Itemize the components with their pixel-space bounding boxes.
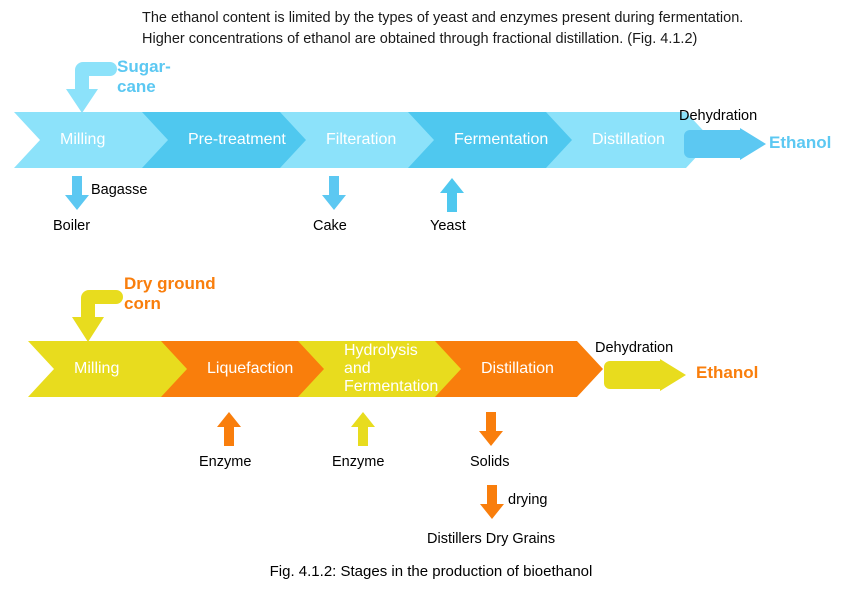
corn-input-label: Dry ground corn bbox=[124, 274, 216, 314]
stage-label: Milling bbox=[14, 131, 174, 149]
enzyme-arrow-2 bbox=[351, 412, 375, 446]
enzyme-arrow-1 bbox=[217, 412, 241, 446]
corn-input-arrow bbox=[68, 283, 124, 343]
sugarcane-input-label: Sugar- cane bbox=[117, 57, 171, 97]
ethanol-output-sugarcane: Ethanol bbox=[769, 133, 831, 153]
distillers-dry-grains-label: Distillers Dry Grains bbox=[427, 531, 555, 547]
dehydration-label-corn: Dehydration bbox=[595, 340, 673, 356]
solids-label: Solids bbox=[470, 454, 510, 470]
solids-arrow bbox=[479, 412, 503, 446]
enzyme-label-2: Enzyme bbox=[332, 454, 384, 470]
dehydration-label-sugarcane: Dehydration bbox=[679, 108, 757, 124]
dehydration-arrow-corn bbox=[604, 359, 686, 391]
yeast-label: Yeast bbox=[430, 218, 466, 234]
cake-label: Cake bbox=[313, 218, 347, 234]
dehydration-arrow-sugarcane bbox=[684, 128, 766, 160]
drying-arrow bbox=[480, 485, 504, 519]
stage-milling-corn[interactable]: Milling bbox=[28, 341, 188, 397]
drying-label: drying bbox=[508, 492, 548, 508]
bagasse-arrow bbox=[65, 176, 89, 210]
boiler-label: Boiler bbox=[53, 218, 90, 234]
cake-arrow bbox=[322, 176, 346, 210]
yeast-arrow bbox=[440, 178, 464, 212]
stage-label: Milling bbox=[28, 360, 188, 378]
figure-caption: Fig. 4.1.2: Stages in the production of … bbox=[0, 563, 862, 580]
bagasse-label: Bagasse bbox=[91, 182, 147, 198]
sugarcane-input-arrow bbox=[62, 56, 118, 114]
diagram-canvas: The ethanol content is limited by the ty… bbox=[0, 0, 862, 607]
ethanol-output-corn: Ethanol bbox=[696, 363, 758, 383]
intro-paragraph: The ethanol content is limited by the ty… bbox=[142, 8, 762, 50]
enzyme-label-1: Enzyme bbox=[199, 454, 251, 470]
